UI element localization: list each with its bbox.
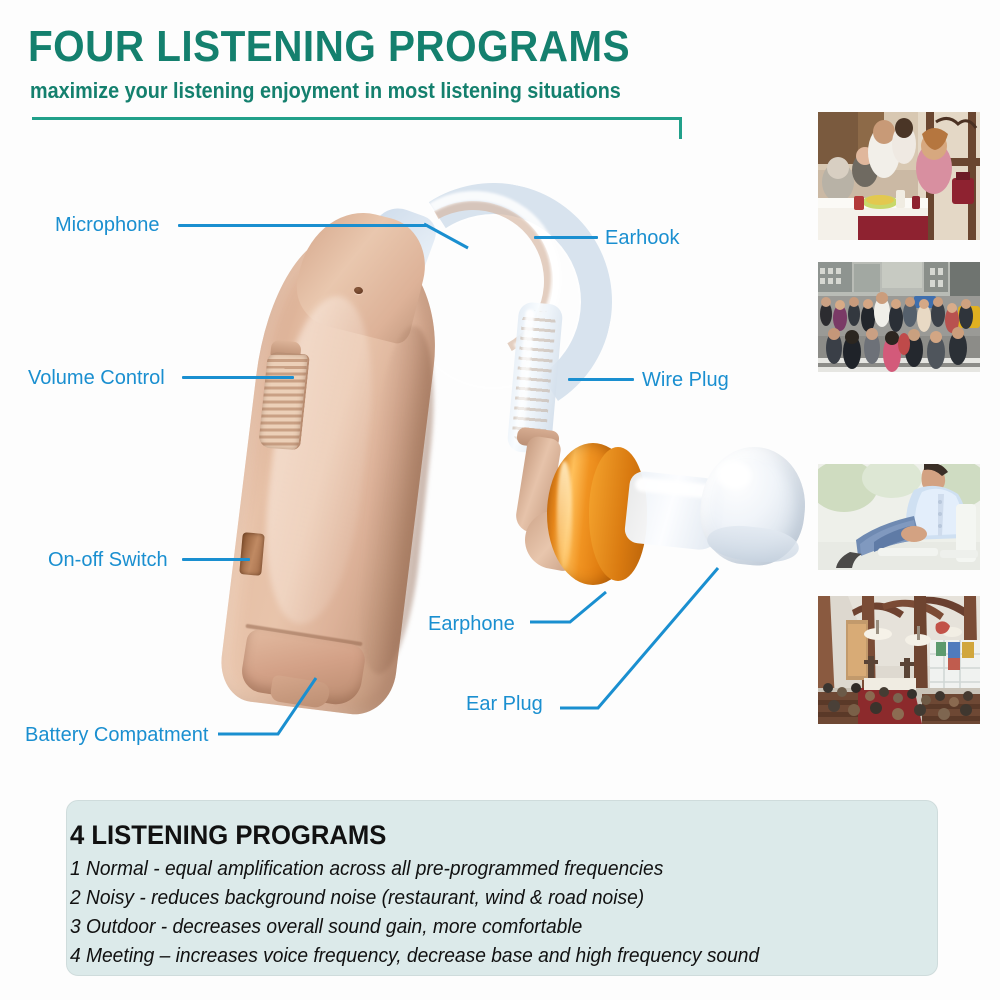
leader-line-battery-compartment [218,660,338,740]
leader-line-microphone-bend [424,222,484,252]
photo-restaurant [818,112,980,240]
page-title: FOUR LISTENING PROGRAMS [28,22,630,72]
leader-line-on-off-switch [182,558,250,561]
photo-outdoor-man [818,464,980,570]
leader-line-wire-plug [568,378,634,381]
callout-label-ear-plug: Ear Plug [466,692,543,716]
earphone-highlight [557,461,572,569]
callout-label-microphone: Microphone [55,213,160,237]
program-line-4: 4 Meeting – increases voice frequency, d… [70,944,759,968]
photo-church-meeting [818,596,980,724]
header-bracket-rule [32,117,682,139]
leader-line-earhook [534,236,598,239]
on-off-switch-part [239,532,265,576]
callout-label-earphone: Earphone [428,612,515,636]
program-line-1: 1 Normal - equal amplification across al… [70,857,663,881]
callout-label-volume-control: Volume Control [28,366,165,390]
leader-line-microphone [178,224,428,227]
leader-line-ear-plug [560,560,740,720]
photo-crowded-street [818,262,980,372]
callout-label-battery-compartment: Battery Compatment [25,723,208,747]
program-line-3: 3 Outdoor - decreases overall sound gain… [70,915,582,939]
page-subtitle: maximize your listening enjoyment in mos… [30,78,621,104]
callout-label-wire-plug: Wire Plug [642,368,729,392]
program-line-2: 2 Noisy - reduces background noise (rest… [70,886,644,910]
leader-line-volume-control [182,376,294,379]
programs-box-title: 4 LISTENING PROGRAMS [70,820,386,851]
callout-label-on-off-switch: On-off Switch [48,548,168,572]
callout-label-earhook: Earhook [605,226,680,250]
